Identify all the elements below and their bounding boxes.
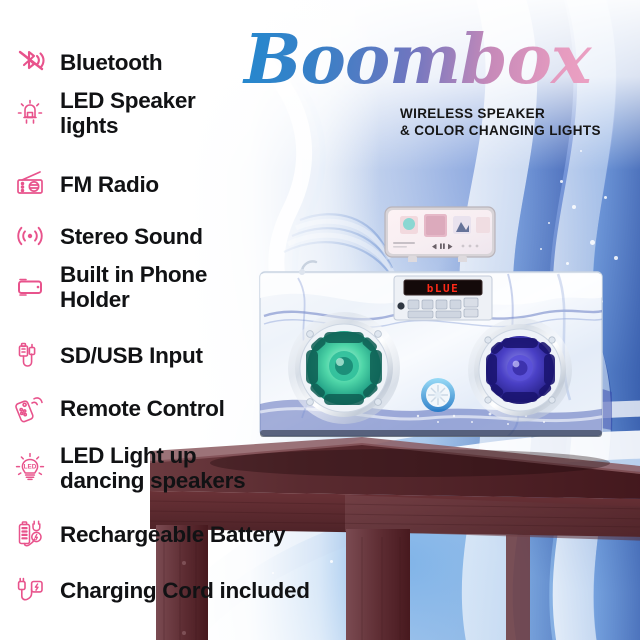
feature-label: Built in Phone Holder bbox=[60, 262, 207, 312]
subtitle-line-1: WIRELESS SPEAKER bbox=[400, 106, 601, 123]
feature-label: FM Radio bbox=[60, 172, 159, 197]
usb-cable-icon bbox=[8, 333, 52, 377]
feature-label: Remote Control bbox=[60, 396, 225, 421]
brand-title: Boombox bbox=[236, 24, 634, 96]
feature-label: SD/USB Input bbox=[60, 343, 203, 368]
infographic-canvas: bLUE bbox=[0, 0, 640, 640]
boombox-speaker: bLUE bbox=[258, 258, 604, 448]
battery-charging-icon bbox=[8, 512, 52, 556]
led-bulb-icon bbox=[8, 91, 52, 135]
feature-item-led-speaker-lights: LED Speaker lights bbox=[8, 88, 196, 138]
fm-radio-icon bbox=[8, 162, 52, 206]
feature-label: Charging Cord included bbox=[60, 578, 310, 603]
bluetooth-icon bbox=[8, 40, 52, 84]
feature-label: Rechargeable Battery bbox=[60, 522, 285, 547]
feature-item-stereo-sound: Stereo Sound bbox=[8, 214, 203, 258]
title-block: Boombox WIRELESS SPEAKER & COLOR CHANGIN… bbox=[236, 24, 634, 96]
left-speaker bbox=[288, 312, 400, 424]
feature-item-remote-control: Remote Control bbox=[8, 386, 225, 430]
feature-item-rechargeable-battery: Rechargeable Battery bbox=[8, 512, 285, 556]
feature-item-sd-usb-input: SD/USB Input bbox=[8, 333, 203, 377]
right-speaker bbox=[468, 318, 572, 422]
phone-holder-icon bbox=[8, 265, 52, 309]
control-panel: bLUE bbox=[394, 276, 492, 320]
svg-text:LED: LED bbox=[24, 464, 37, 471]
feature-item-bluetooth: Bluetooth bbox=[8, 40, 162, 84]
feature-label: Bluetooth bbox=[60, 50, 162, 75]
led-display-text: bLUE bbox=[427, 282, 460, 295]
volume-knob bbox=[421, 378, 455, 412]
phone-on-holder bbox=[384, 206, 496, 262]
led-lightbulb-icon: LED bbox=[8, 446, 52, 490]
feature-label: Stereo Sound bbox=[60, 224, 203, 249]
feature-item-fm-radio: FM Radio bbox=[8, 162, 159, 206]
brand-subtitle: WIRELESS SPEAKER & COLOR CHANGING LIGHTS bbox=[400, 106, 601, 139]
feature-item-phone-holder: Built in Phone Holder bbox=[8, 262, 207, 312]
feature-label: LED Speaker lights bbox=[60, 88, 196, 138]
feature-item-charging-cord: Charging Cord included bbox=[8, 568, 310, 612]
feature-item-led-dancing-speakers: LED LED Light up dancing speakers bbox=[8, 443, 245, 493]
remote-control-icon bbox=[8, 386, 52, 430]
feature-label: LED Light up dancing speakers bbox=[60, 443, 245, 493]
subtitle-line-2: & COLOR CHANGING LIGHTS bbox=[400, 123, 601, 140]
stereo-sound-icon bbox=[8, 214, 52, 258]
charging-cord-icon bbox=[8, 568, 52, 612]
